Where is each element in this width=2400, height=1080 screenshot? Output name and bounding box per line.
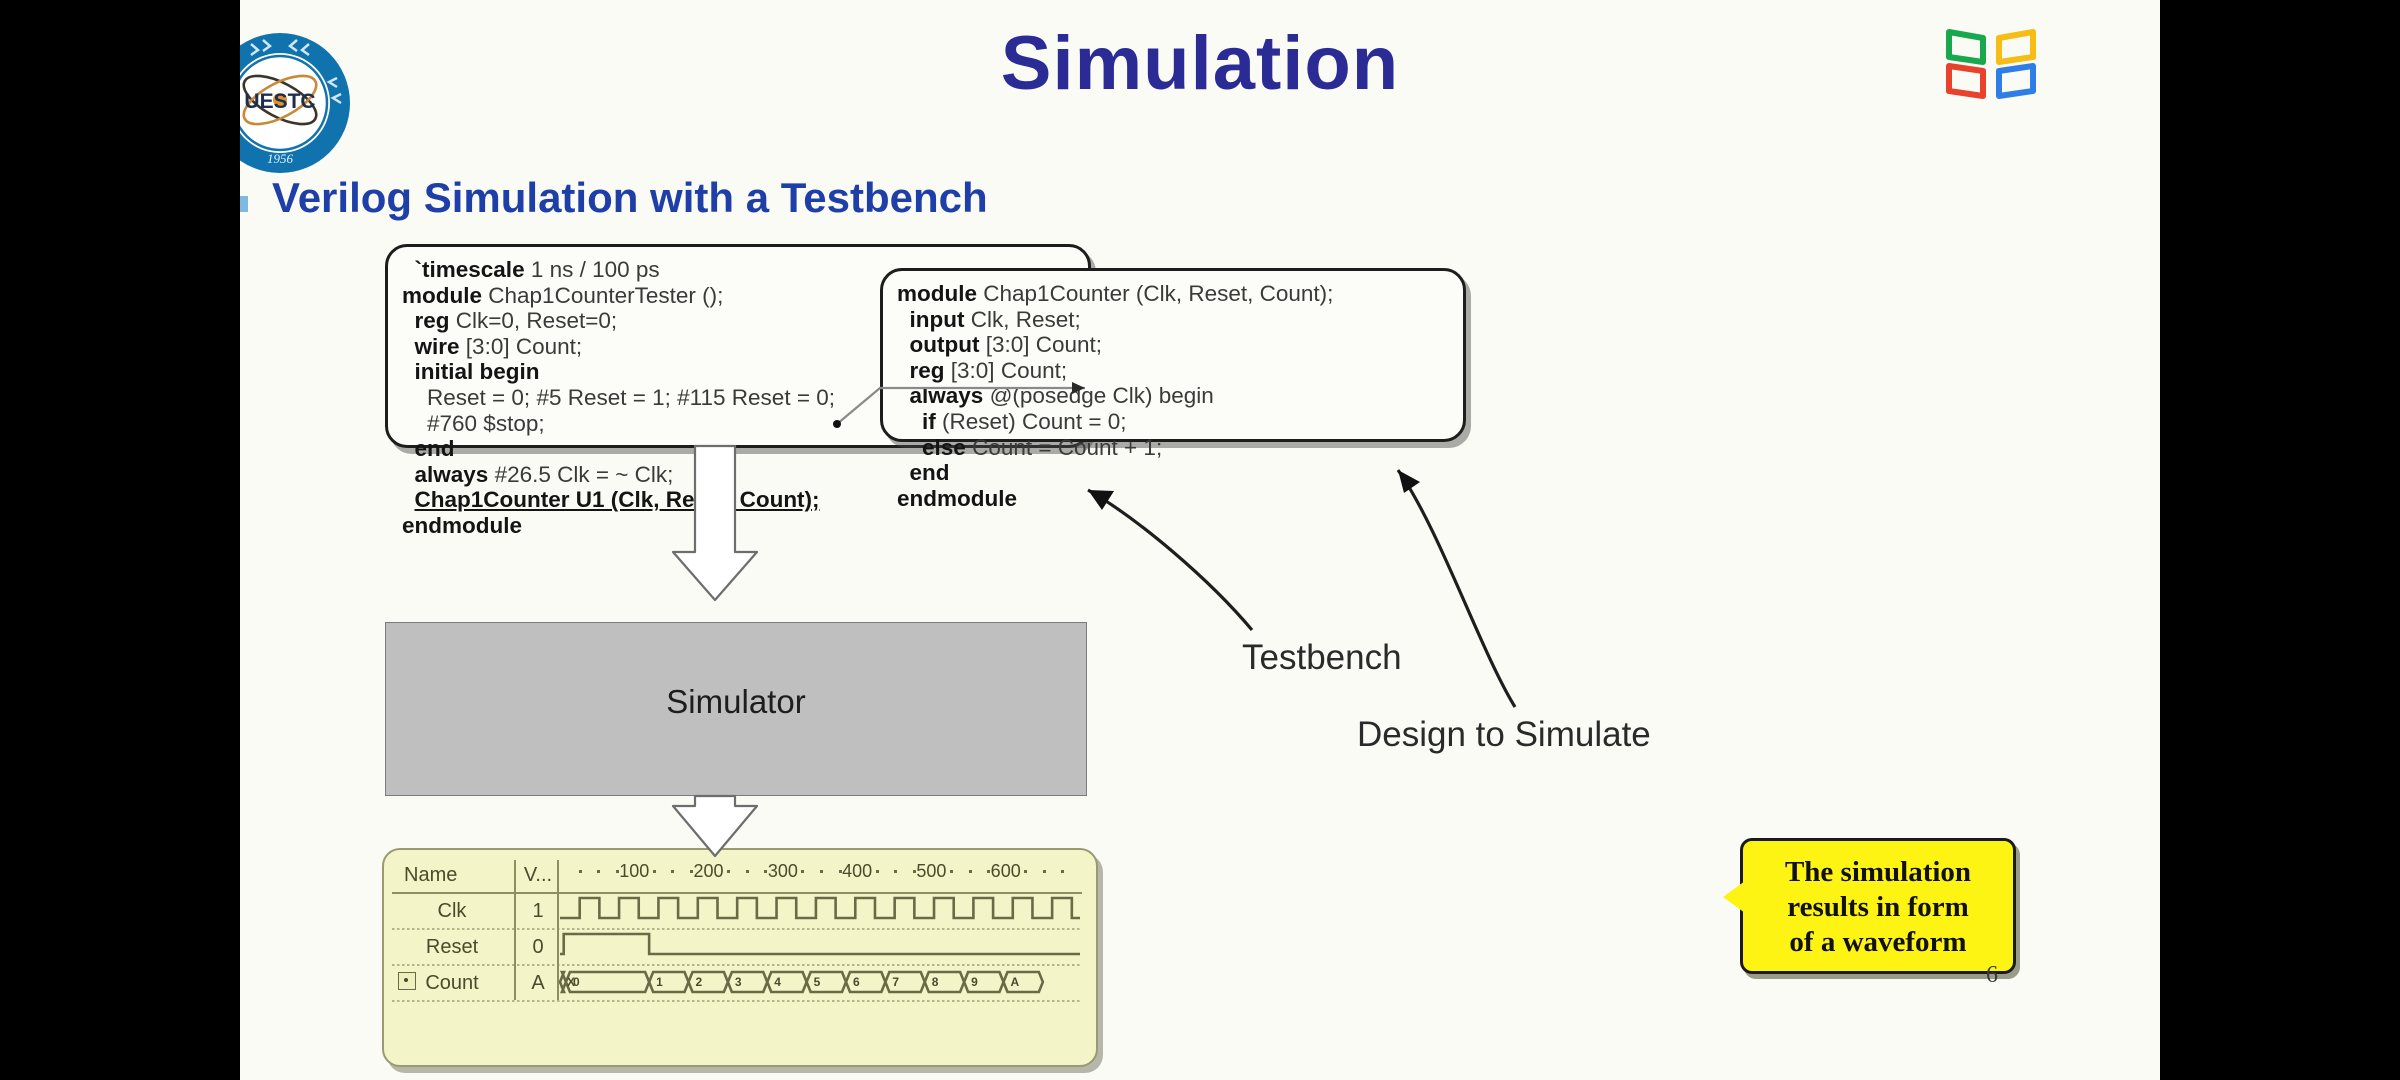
time-tick-mark [1024, 870, 1027, 873]
time-tick-label: 400 [842, 861, 872, 882]
simulator-box: Simulator [385, 622, 1087, 796]
callout-line-2: results in form [1743, 890, 2013, 925]
time-tick-mark [1043, 870, 1046, 873]
bus-value-label: 6 [853, 975, 860, 989]
svg-text:UESTC: UESTC [244, 90, 315, 113]
time-tick-mark [801, 870, 804, 873]
time-tick-mark [597, 870, 600, 873]
time-tick-mark [746, 870, 749, 873]
time-tick-mark [616, 870, 619, 873]
four-square-book-logo [1945, 22, 2037, 106]
time-tick-mark [1061, 870, 1064, 873]
signal-value-count: A [518, 972, 558, 995]
signal-name-clk: Clk [392, 900, 512, 923]
uestc-logo-year: 1956 [267, 151, 294, 166]
time-tick-mark [876, 870, 879, 873]
bus-value-label: 2 [696, 975, 703, 989]
time-ruler: 100200300400500600 [560, 861, 1080, 887]
slide-subtitle: Verilog Simulation with a Testbench [272, 174, 988, 222]
bus-value-label: 9 [971, 975, 978, 989]
time-tick-label: 600 [991, 861, 1021, 882]
simulator-label: Simulator [386, 683, 1086, 721]
waveform-panel[interactable]: Name V... 100200300400500600 Clk 1 Reset… [382, 848, 1098, 1067]
bus-value-label: 8 [932, 975, 939, 989]
time-tick-mark [969, 870, 972, 873]
signal-name-count: Count [392, 972, 512, 995]
label-design-to-simulate: Design to Simulate [1357, 715, 1651, 755]
time-tick-label: 200 [694, 861, 724, 882]
uestc-logo: UESTC 1956 [240, 8, 375, 198]
waveform-traces: X0123456789A [560, 892, 1080, 1004]
column-header-name: Name [396, 864, 524, 887]
time-tick-mark [894, 870, 897, 873]
bus-value-label: 7 [892, 975, 899, 989]
time-tick-mark [671, 870, 674, 873]
column-header-value: V... [518, 864, 558, 887]
label-testbench: Testbench [1242, 638, 1402, 678]
signal-value-reset: 0 [518, 936, 558, 959]
time-tick-mark [653, 870, 656, 873]
callout-tail [1723, 881, 1745, 913]
signal-name-reset: Reset [392, 936, 512, 959]
bus-value-label: 5 [814, 975, 821, 989]
design-code-text: module Chap1Counter (Clk, Reset, Count);… [883, 271, 1463, 521]
time-tick-mark [727, 870, 730, 873]
bus-value-label: 3 [735, 975, 742, 989]
time-tick-mark [913, 870, 916, 873]
callout-line-3: of a waveform [1743, 925, 2013, 960]
time-tick-mark [987, 870, 990, 873]
bullet-square-icon [240, 196, 248, 212]
screen: UESTC 1956 Simulation Verilog Simulation… [0, 0, 2400, 1080]
bus-value-label: A [1010, 975, 1019, 989]
signal-value-clk: 1 [518, 900, 558, 923]
time-tick-mark [839, 870, 842, 873]
time-tick-label: 100 [619, 861, 649, 882]
bus-value-label: 0 [573, 975, 580, 989]
time-tick-mark [764, 870, 767, 873]
bus-value-label: 4 [774, 975, 781, 989]
time-tick-mark [579, 870, 582, 873]
time-tick-mark [690, 870, 693, 873]
page-number: 6 [1986, 962, 1998, 989]
callout-text: The simulation results in form of a wave… [1743, 855, 2013, 960]
time-tick-mark [820, 870, 823, 873]
callout-line-1: The simulation [1743, 855, 2013, 890]
slide-canvas: UESTC 1956 Simulation Verilog Simulation… [240, 0, 2160, 1080]
page-title: Simulation [670, 20, 1730, 107]
waveform-grid: Name V... 100200300400500600 Clk 1 Reset… [392, 858, 1082, 1033]
time-tick-mark [950, 870, 953, 873]
design-code-box: module Chap1Counter (Clk, Reset, Count);… [880, 268, 1466, 442]
callout-bubble: The simulation results in form of a wave… [1740, 838, 2016, 974]
time-tick-label: 300 [768, 861, 798, 882]
waveform-header-row: Name V... 100200300400500600 [392, 858, 1082, 892]
block-arrow-down-bottom [673, 796, 757, 856]
time-tick-label: 500 [916, 861, 946, 882]
corner-logo-text [2040, 38, 2160, 94]
bus-value-label: 1 [656, 975, 663, 989]
